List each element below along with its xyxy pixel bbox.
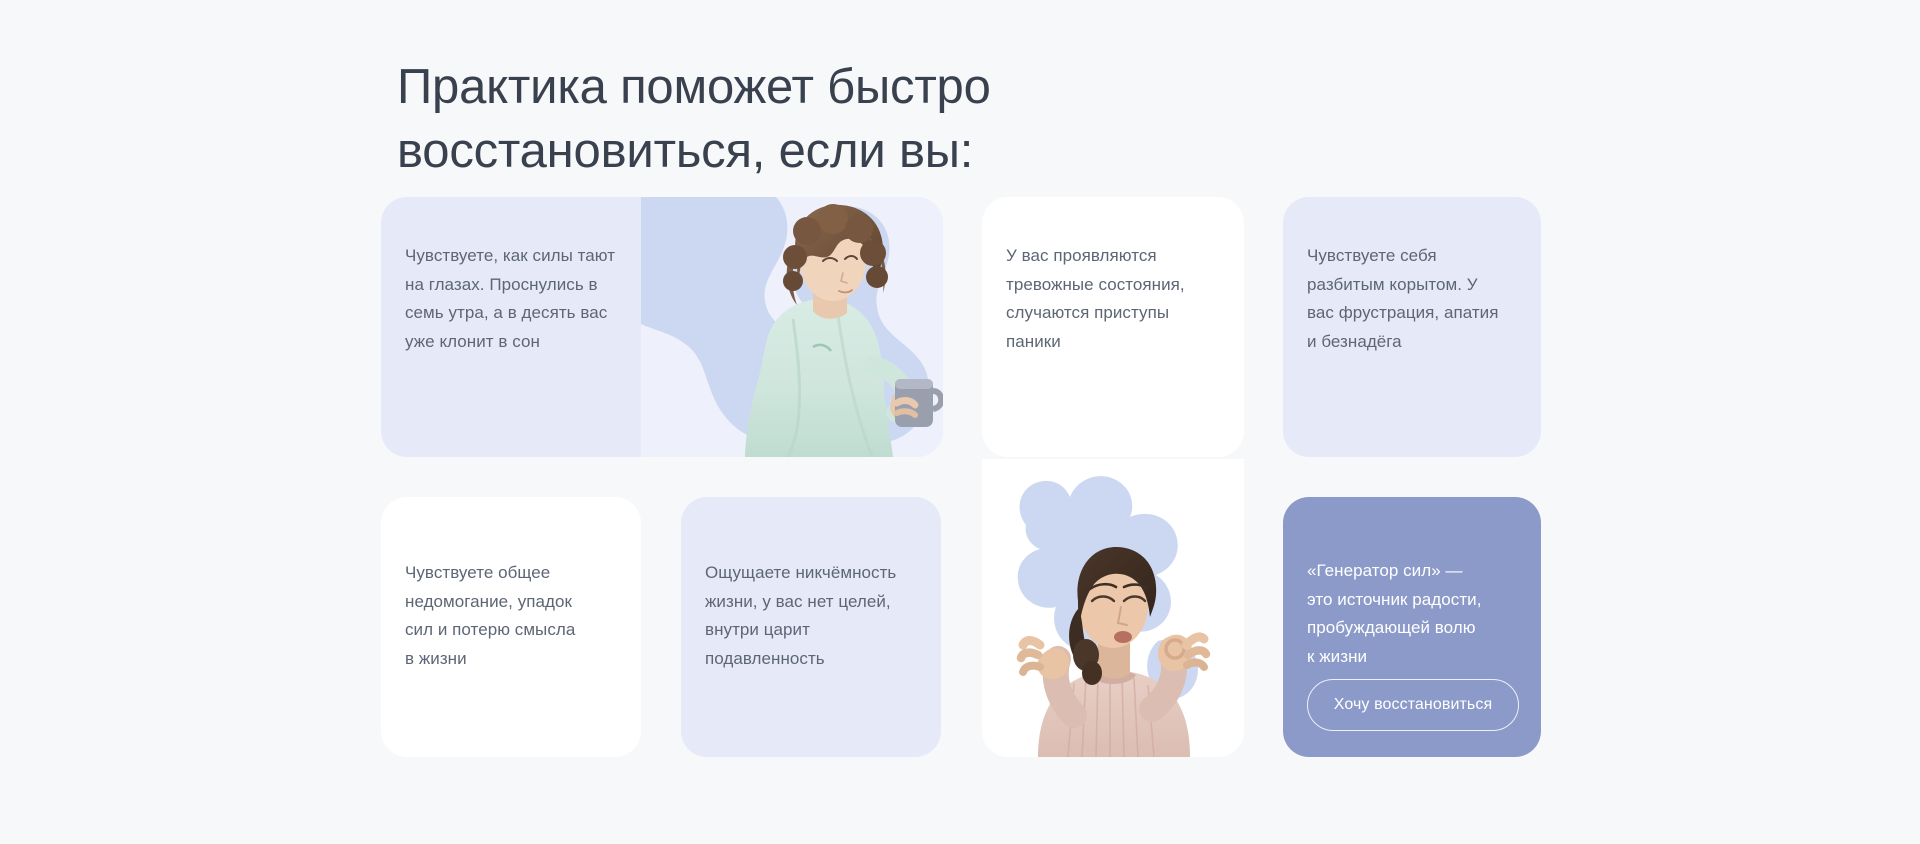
card-meditation-photo <box>982 459 1244 757</box>
card-apathy: Чувствуете себя разбитым корытом. У вас … <box>1283 197 1541 457</box>
card-fatigue-text: Чувствуете, как силы тают на глазах. Про… <box>405 242 655 356</box>
card-fatigue: Чувствуете, как силы тают на глазах. Про… <box>381 197 943 457</box>
card-cta-text: «Генератор сил» — это источник радости, … <box>1307 557 1529 671</box>
card-malaise-text: Чувствуете общее недомогание, упадок сил… <box>405 559 625 673</box>
card-worthlessness: Ощущаете никчёмность жизни, у вас нет це… <box>681 497 941 757</box>
fatigue-photo-illustration <box>641 197 943 457</box>
cards-grid: Чувствуете, как силы тают на глазах. Про… <box>381 197 1541 757</box>
card-malaise: Чувствуете общее недомогание, упадок сил… <box>381 497 641 757</box>
card-anxiety-text: У вас проявляются тревожные состояния, с… <box>1006 242 1228 356</box>
card-anxiety: У вас проявляются тревожные состояния, с… <box>982 197 1244 457</box>
recover-button[interactable]: Хочу восстановиться <box>1307 679 1519 731</box>
fatigue-photo <box>641 197 943 457</box>
page-title: Практика поможет быстро восстановиться, … <box>397 55 1297 183</box>
meditation-photo <box>982 459 1244 757</box>
card-apathy-text: Чувствуете себя разбитым корытом. У вас … <box>1307 242 1529 356</box>
meditation-photo-illustration <box>982 459 1244 757</box>
card-worthlessness-text: Ощущаете никчёмность жизни, у вас нет це… <box>705 559 933 673</box>
landing-section: Практика поможет быстро восстановиться, … <box>0 0 1920 844</box>
card-cta: «Генератор сил» — это источник радости, … <box>1283 497 1541 757</box>
